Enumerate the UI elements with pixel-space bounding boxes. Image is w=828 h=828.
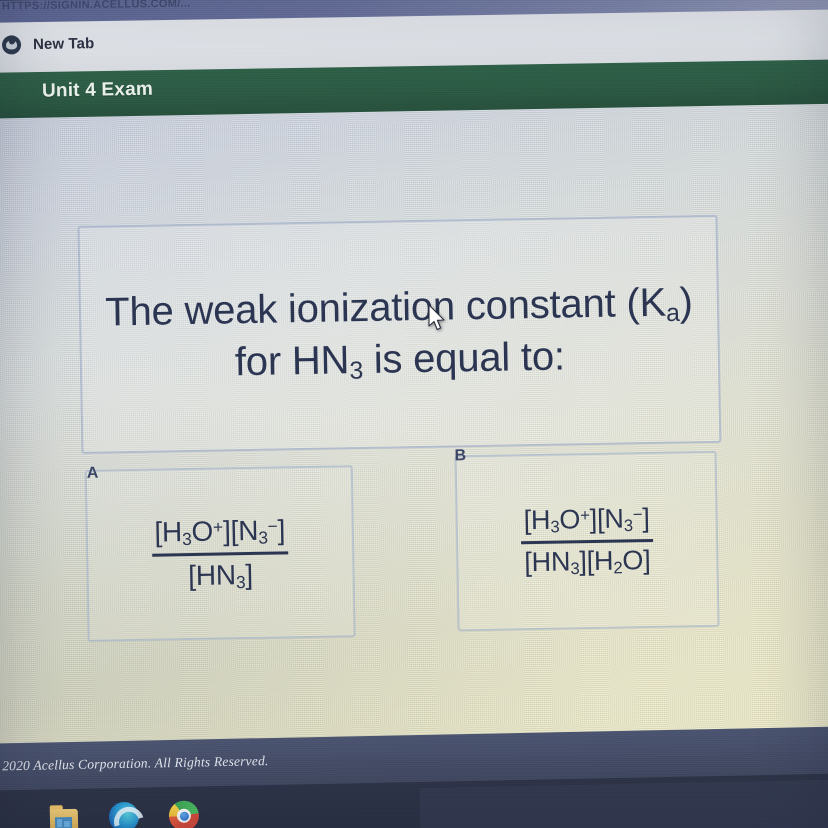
option-letter-b: B bbox=[454, 447, 466, 465]
question-line-2: for HN3 is equal to: bbox=[235, 334, 566, 384]
answer-option-a[interactable]: [H3O+][N3−] [HN3] bbox=[85, 465, 356, 642]
option-b-formula: [H3O+][N3−] [HN3][H2O] bbox=[520, 503, 653, 579]
question-text: The weak ionization constant (Ka)for HN3… bbox=[95, 277, 704, 392]
screenshot-root: HTTPS://SIGNIN.ACELLUS.COM/... New Tab U… bbox=[0, 0, 828, 828]
taskbar-icon-group bbox=[48, 799, 201, 828]
address-bar-url: HTTPS://SIGNIN.ACELLUS.COM/... bbox=[2, 0, 191, 13]
option-a-numerator: [H3O+][N3−] bbox=[151, 514, 289, 557]
file-explorer-icon[interactable] bbox=[48, 802, 81, 828]
browser-tab-new-tab[interactable]: New Tab bbox=[2, 28, 95, 59]
answer-option-b[interactable]: [H3O+][N3−] [HN3][H2O] bbox=[455, 451, 720, 632]
option-b-numerator: [H3O+][N3−] bbox=[520, 503, 653, 544]
option-b-denominator: [HN3][H2O] bbox=[524, 542, 651, 580]
browser-tab-label: New Tab bbox=[33, 35, 95, 53]
course-title: Unit 4 Exam bbox=[42, 79, 153, 103]
question-line-1: The weak ionization constant (Ka) bbox=[105, 280, 693, 334]
option-letter-a: A bbox=[87, 465, 99, 483]
copyright-text: - 2020 Acellus Corporation. All Rights R… bbox=[0, 753, 269, 775]
question-panel: The weak ionization constant (Ka)for HN3… bbox=[77, 215, 721, 454]
option-a-denominator: [HN3] bbox=[188, 554, 253, 592]
lesson-content-area: The weak ionization constant (Ka)for HN3… bbox=[0, 96, 828, 751]
option-a-formula: [H3O+][N3−] [HN3] bbox=[151, 514, 289, 594]
microsoft-edge-icon[interactable] bbox=[108, 801, 141, 828]
taskbar-right-panel bbox=[419, 779, 828, 828]
acellus-favicon bbox=[2, 35, 21, 54]
google-chrome-icon[interactable] bbox=[168, 799, 201, 828]
